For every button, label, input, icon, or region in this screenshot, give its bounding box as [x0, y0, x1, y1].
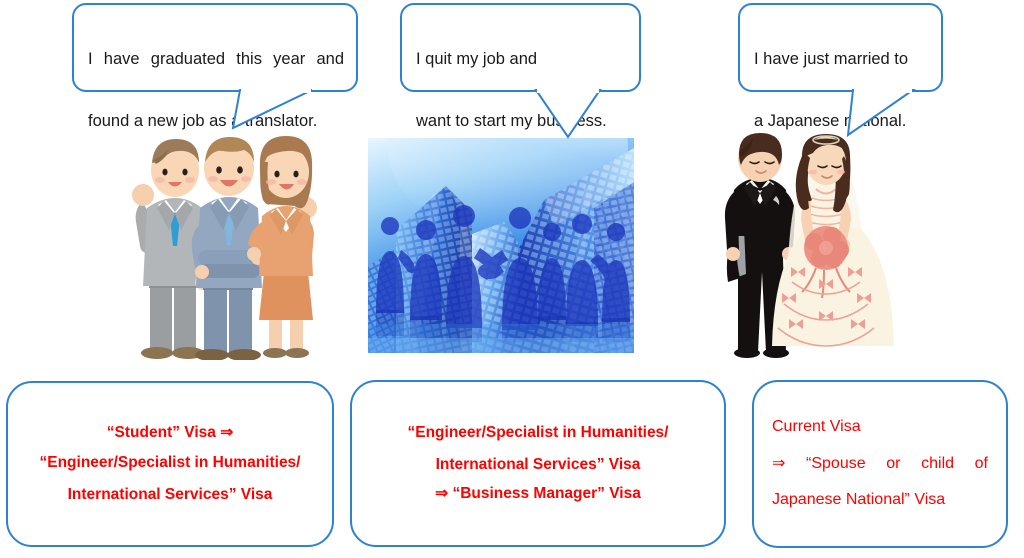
diagram-canvas: I have graduated this year and found a n…: [0, 0, 1024, 558]
speech-bubble-1-line-1: I have graduated this year and: [88, 44, 344, 75]
spacer: [772, 473, 988, 491]
speech-bubble-2-text: I quit my job and want to start my busin…: [416, 13, 627, 168]
result-box-1: “Student” Visa ⇒ “Engineer/Specialist in…: [6, 381, 334, 547]
result-box-2-line-2: International Services” Visa: [368, 456, 708, 474]
spacer: [368, 473, 708, 485]
spacer: [772, 437, 988, 455]
result-box-1-line-1: “Student” Visa ⇒: [22, 424, 318, 442]
speech-bubble-3-line-2: a Japanese national.: [754, 106, 929, 137]
speech-bubble-3-text: I have just married to a Japanese nation…: [754, 13, 929, 168]
result-box-3-line-3: Japanese National” Visa: [772, 491, 988, 509]
speech-bubble-1-line-2: found a new job as a translator.: [88, 106, 344, 137]
business-skyline-handshake-photo: [368, 138, 634, 353]
speech-bubble-2-line-1: I quit my job and: [416, 44, 627, 75]
result-box-2: “Engineer/Specialist in Humanities/ Inte…: [350, 380, 726, 547]
speech-bubble-3: I have just married to a Japanese nation…: [738, 3, 943, 92]
speech-bubble-2: I quit my job and want to start my busin…: [400, 3, 641, 92]
spacer: [22, 442, 318, 454]
result-box-2-line-1: “Engineer/Specialist in Humanities/: [368, 424, 708, 442]
speech-bubble-1-text: I have graduated this year and found a n…: [88, 13, 344, 168]
result-box-1-line-2: “Engineer/Specialist in Humanities/: [22, 454, 318, 472]
speech-bubble-1: I have graduated this year and found a n…: [72, 3, 358, 92]
result-box-3-line-2: ⇒ “Spouse or child of: [772, 455, 988, 473]
result-box-3: Current Visa ⇒ “Spouse or child of Japan…: [752, 380, 1008, 548]
skyline-photo-content: [368, 138, 634, 353]
result-box-3-line-1: Current Visa: [772, 418, 988, 436]
result-box-2-line-3: ⇒ “Business Manager” Visa: [368, 485, 708, 503]
result-box-1-line-3: International Services” Visa: [22, 486, 318, 504]
speech-bubble-3-line-1: I have just married to: [754, 44, 929, 75]
speech-bubble-2-line-2: want to start my business.: [416, 106, 627, 137]
